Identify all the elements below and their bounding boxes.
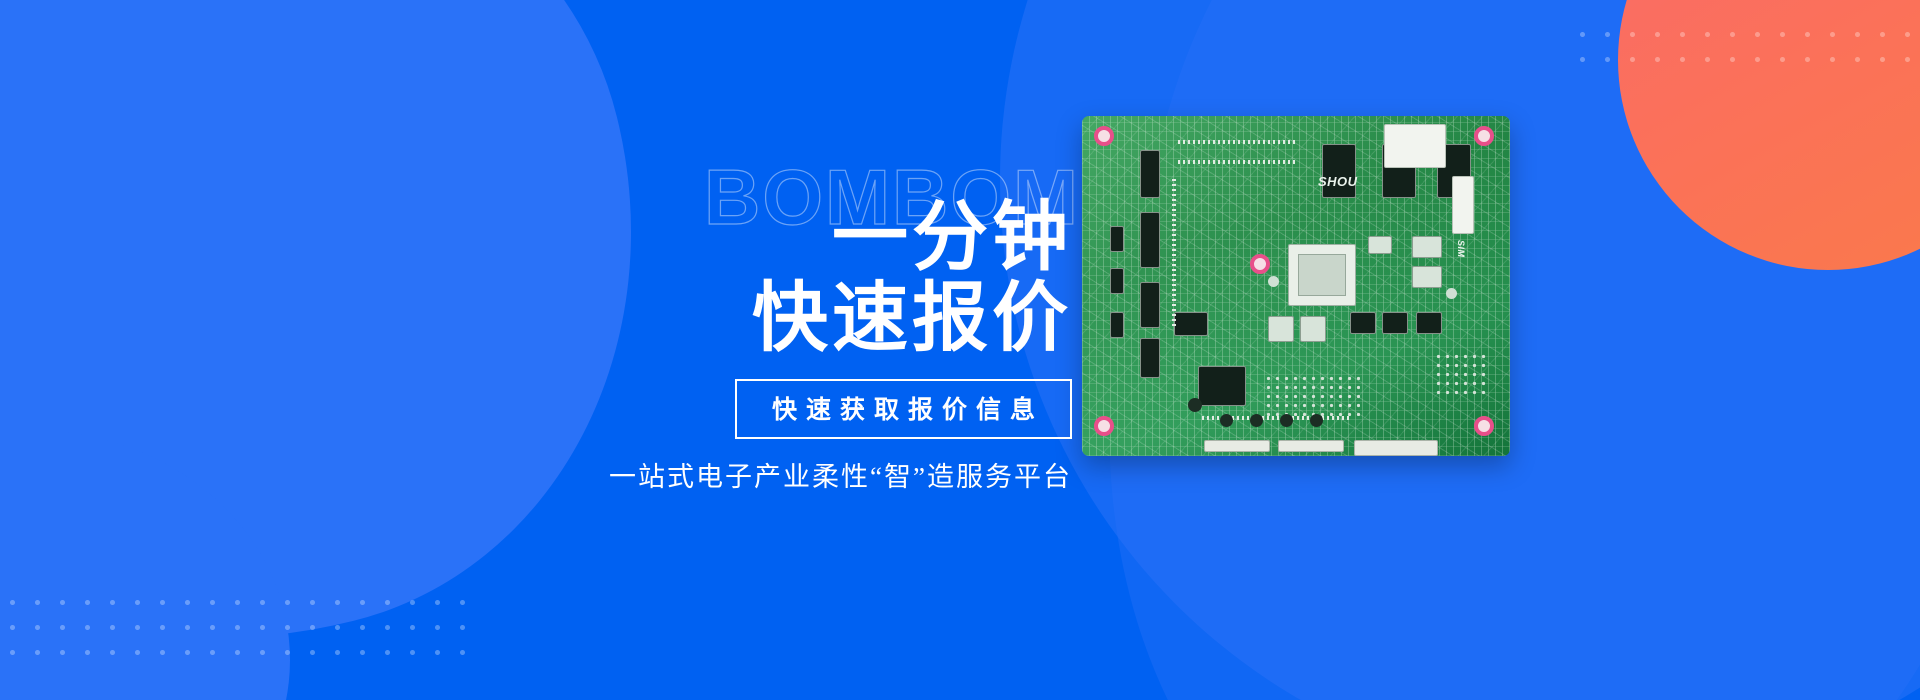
inductor-2 bbox=[1300, 316, 1326, 342]
smd-block-3 bbox=[1368, 236, 1392, 254]
ic-small-left-2 bbox=[1110, 268, 1124, 294]
smd-block-2 bbox=[1412, 266, 1442, 288]
ic-small-left-1 bbox=[1110, 226, 1124, 252]
board-logo: SHOU bbox=[1318, 174, 1358, 189]
mounting-hole-mid bbox=[1250, 254, 1270, 274]
pin-row-left bbox=[1172, 176, 1176, 326]
copy-block: BOMBOM 一分钟 快速报价 快速获取报价信息 一站式电子产业柔性“智”造服务… bbox=[609, 158, 1072, 494]
inductor-1 bbox=[1268, 316, 1294, 342]
headline-line-1: 一分钟 bbox=[832, 195, 1072, 280]
qfp-chip-right bbox=[1382, 312, 1408, 334]
ic-small-left-3 bbox=[1110, 312, 1124, 338]
ic-vertical-2 bbox=[1140, 212, 1160, 268]
pin-row-top-2 bbox=[1178, 160, 1298, 164]
mounting-hole-top-left bbox=[1094, 126, 1114, 146]
mounting-hole-bottom-right bbox=[1474, 416, 1494, 436]
edge-connector-2 bbox=[1278, 440, 1344, 452]
capacitor-1 bbox=[1188, 398, 1202, 412]
capacitor-5 bbox=[1310, 414, 1323, 427]
test-pad-2 bbox=[1446, 288, 1457, 299]
memory-chip-1 bbox=[1322, 144, 1356, 198]
qfp-chip-right-2 bbox=[1416, 312, 1442, 334]
capacitor-2 bbox=[1220, 414, 1233, 427]
badge-box: 快速获取报价信息 bbox=[735, 379, 1072, 439]
smd-block-1 bbox=[1412, 236, 1442, 258]
via-field-right bbox=[1434, 352, 1488, 400]
main-processor bbox=[1288, 244, 1356, 306]
ic-vertical-3 bbox=[1140, 282, 1160, 328]
qfp-chip-mid bbox=[1174, 312, 1208, 336]
ic-vertical-4 bbox=[1140, 338, 1160, 378]
headline-line-2: 快速报价 bbox=[609, 279, 1072, 360]
pcb-board: SIM SHOU bbox=[1082, 116, 1510, 456]
via-field-bottom bbox=[1264, 374, 1360, 416]
mounting-hole-bottom-left bbox=[1094, 416, 1114, 436]
capacitor-4 bbox=[1280, 414, 1293, 427]
promo-banner: BOMBOM 一分钟 快速报价 快速获取报价信息 一站式电子产业柔性“智”造服务… bbox=[0, 0, 1920, 700]
banner-content: BOMBOM 一分钟 快速报价 快速获取报价信息 一站式电子产业柔性“智”造服务… bbox=[0, 0, 1090, 700]
headline: 一分钟 快速报价 bbox=[609, 158, 1072, 359]
qfp-chip-right-3 bbox=[1350, 312, 1376, 334]
test-pad-1 bbox=[1268, 276, 1279, 287]
edge-connector-1 bbox=[1204, 440, 1270, 452]
side-connector bbox=[1452, 176, 1474, 234]
dot-grid-top-right bbox=[1570, 22, 1920, 74]
ic-vertical-1 bbox=[1140, 150, 1160, 198]
pcb-image: SIM SHOU bbox=[1082, 116, 1510, 456]
capacitor-3 bbox=[1250, 414, 1263, 427]
badge-label: 快速获取报价信息 bbox=[763, 396, 1044, 424]
card-connector bbox=[1384, 124, 1446, 168]
side-label: SIM bbox=[1456, 240, 1466, 258]
edge-connector-3 bbox=[1354, 440, 1438, 456]
mounting-hole-top-right bbox=[1474, 126, 1494, 146]
qfp-chip-bottom bbox=[1198, 366, 1246, 406]
tagline: 一站式电子产业柔性“智”造服务平台 bbox=[609, 455, 1072, 494]
pin-row-top bbox=[1178, 140, 1298, 144]
